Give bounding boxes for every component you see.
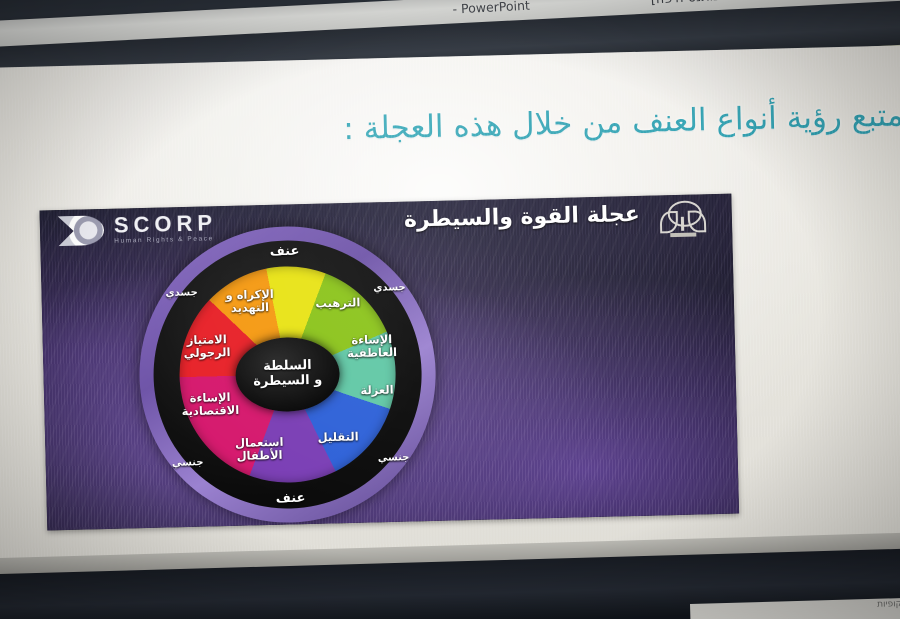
- ring-label-sexual-lower-left: جنسي: [172, 457, 204, 469]
- scorp-logo: SCORP Human Rights & Peace: [58, 212, 218, 246]
- window-title-text-secondary: PowerPoint -: [452, 0, 530, 17]
- ring-label-top: عنف: [270, 244, 300, 260]
- ring-label-bottom: عنف: [276, 491, 306, 507]
- wheel-diagram: السلطة و السيطرة الترهيب الإساءة العاطفي…: [136, 223, 439, 526]
- emblem-icon: [655, 198, 710, 243]
- taskbar-label: הצגת שקופיות: [877, 598, 900, 610]
- ring-label-physical-upper-left: جسدي: [165, 287, 198, 299]
- power-control-wheel-figure: SCORP Human Rights & Peace عجلة القوة وا…: [40, 194, 740, 531]
- powerpoint-slide[interactable]: متبع رؤية أنواع العنف من خلال هذه العجلة…: [0, 45, 900, 588]
- ring-label-physical-upper-right: جسدي: [373, 282, 406, 294]
- scorp-mark-icon: [58, 215, 105, 246]
- slide-heading: متبع رؤية أنواع العنف من خلال هذه العجلة…: [23, 97, 900, 154]
- scorp-wordmark: SCORP: [114, 212, 218, 237]
- ring-label-sexual-lower-right: جنسي: [378, 452, 410, 464]
- screenshot-root: PowerPoint - הצגת שקופיות של [הרצאה-מתנס…: [0, 0, 900, 619]
- center-label-line2: و السيطرة: [253, 374, 322, 391]
